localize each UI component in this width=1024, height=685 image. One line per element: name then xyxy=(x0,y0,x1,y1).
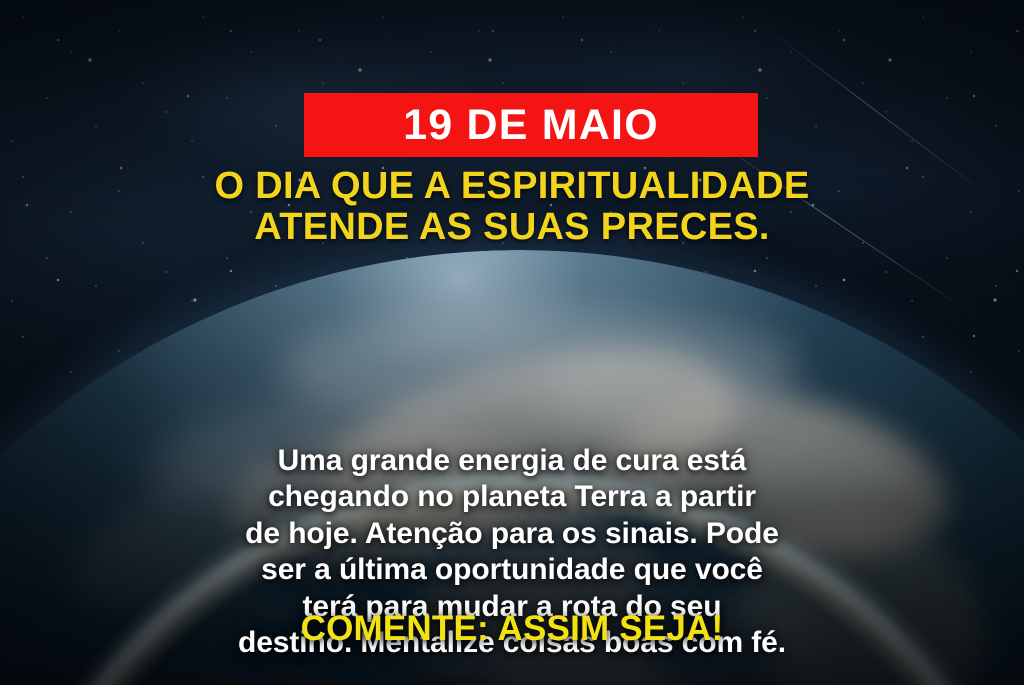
headline-line-2: ATENDE AS SUAS PRECES. xyxy=(28,207,996,248)
body-line-4: ser a última oportunidade que você xyxy=(40,552,984,588)
date-banner-label: 19 DE MAIO xyxy=(403,104,659,147)
headline-line-1: O DIA QUE A ESPIRITUALIDADE xyxy=(28,166,996,207)
date-banner: 19 DE MAIO xyxy=(304,93,758,157)
call-to-action: COMENTE: ASSIM SEJA! xyxy=(0,611,1024,646)
headline: O DIA QUE A ESPIRITUALIDADE ATENDE AS SU… xyxy=(0,166,1024,247)
body-line-1: Uma grande energia de cura está xyxy=(40,443,984,479)
poster-canvas: 19 DE MAIO O DIA QUE A ESPIRITUALIDADE A… xyxy=(0,0,1024,685)
body-line-2: chegando no planeta Terra a partir xyxy=(40,479,984,515)
call-to-action-label: COMENTE: ASSIM SEJA! xyxy=(301,609,724,648)
poster-content: 19 DE MAIO O DIA QUE A ESPIRITUALIDADE A… xyxy=(0,0,1024,685)
body-line-3: de hoje. Atenção para os sinais. Pode xyxy=(40,516,984,552)
